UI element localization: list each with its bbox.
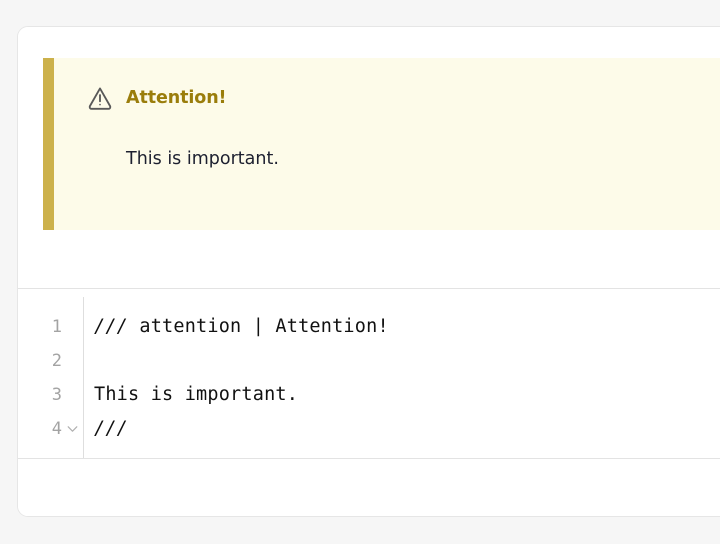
gutter-separator-rule	[83, 297, 84, 458]
admonition-title: Attention!	[126, 88, 226, 108]
markdown-preview-pane: Attention! This is important.	[18, 27, 720, 288]
line-number: 3	[18, 378, 62, 412]
card-footer	[18, 459, 720, 516]
code-content-area[interactable]: /// attention | Attention! This is impor…	[94, 289, 720, 458]
warning-triangle-icon	[87, 85, 113, 111]
code-token-text: attention | Attention!	[128, 316, 389, 337]
code-editor-pane[interactable]: 1 2 3 4 /// attention | Attention! This …	[18, 289, 720, 458]
chevron-down-icon[interactable]	[65, 412, 79, 446]
code-token-fence: ///	[94, 316, 128, 337]
code-token-fence: ///	[94, 418, 128, 439]
editor-gutter[interactable]: 1 2 3 4	[18, 289, 83, 458]
admonition-header: Attention!	[87, 85, 226, 111]
code-line[interactable]: This is important.	[94, 378, 298, 412]
admonition-body-text: This is important.	[126, 149, 279, 169]
line-number: 2	[18, 344, 62, 378]
attention-admonition-block: Attention! This is important.	[43, 58, 720, 230]
line-number: 4	[18, 412, 62, 446]
code-line[interactable]: ///	[94, 412, 128, 446]
code-line[interactable]: /// attention | Attention!	[94, 310, 389, 344]
editor-preview-card: Attention! This is important. 1 2 3 4 //…	[17, 26, 720, 517]
line-number: 1	[18, 310, 62, 344]
code-token-text: This is important.	[94, 384, 298, 405]
